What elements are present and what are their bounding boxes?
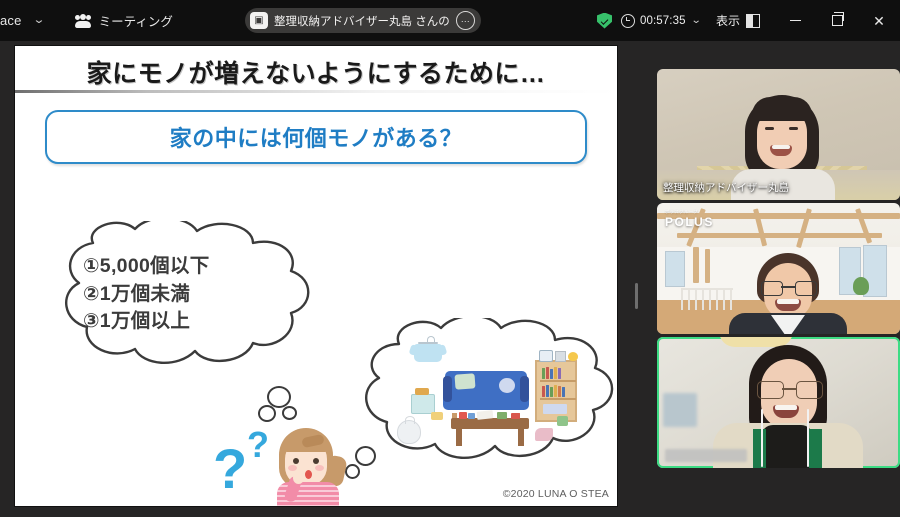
bookshelf (535, 360, 577, 422)
floor-item-pink (535, 428, 553, 441)
coffee-table (451, 418, 529, 448)
tile2-post-1 (693, 247, 699, 283)
thought-tail-bubble-small (282, 406, 297, 420)
screen-share-icon: ▣ (250, 12, 268, 29)
tile2-stair-rail (681, 288, 733, 310)
shelf-box (555, 351, 566, 362)
tile3-background-picture (663, 393, 697, 427)
view-label: 表示 (716, 12, 740, 29)
tile2-post-2 (705, 249, 710, 283)
tile3-turtleneck (761, 425, 813, 468)
table-clutter-cup (459, 412, 467, 419)
resize-handle[interactable] (629, 45, 645, 507)
question-mark-large: ? (213, 436, 247, 501)
chevron-down-icon[interactable]: ⌄ (20, 15, 56, 26)
people-icon (74, 14, 92, 28)
polus-watermark: ポラスグループ POLUS (665, 209, 714, 229)
woman-hand (293, 472, 304, 484)
option-item-3: ③1万個以上 (83, 308, 210, 336)
options-list: ①5,000個以下 ②1万個未満 ③1万個以上 (83, 253, 210, 336)
timer-chevron-down-icon[interactable]: ⌄ (690, 15, 701, 26)
question-mark-small: ? (247, 424, 269, 466)
participant-tile-2[interactable]: ポラスグループ POLUS (657, 203, 900, 334)
option-item-1: ①5,000個以下 (83, 253, 210, 281)
hanging-shirt (411, 342, 445, 368)
tile3-blurred-object (665, 449, 747, 462)
tile1-mouth (770, 145, 792, 156)
close-button[interactable]: ✕ (858, 0, 900, 41)
tile3-glasses-icon (757, 381, 821, 397)
question-box-text: 家の中には何個モノがある？ (170, 121, 463, 153)
shared-content-pill[interactable]: ▣ 整理収納アドバイザー丸島 さんの ··· (245, 8, 481, 33)
table-clutter-green (497, 412, 507, 419)
title-bar: ace ⌄ ミーティング ▣ 整理収納アドバイザー丸島 さんの ··· 00:5… (0, 0, 900, 41)
tile2-glasses-icon (761, 281, 815, 294)
tile1-fringe (752, 97, 812, 121)
tile2-mouth (775, 299, 801, 311)
toy-spill (415, 388, 429, 395)
clock-icon (621, 14, 635, 28)
shared-content-title: 整理収納アドバイザー丸島 さんの (274, 13, 450, 29)
woman-mouth (305, 470, 312, 479)
slide-title: 家にモノが増えないようにするために… (15, 54, 617, 90)
thought-tail-bubble-medium (258, 405, 276, 422)
meeting-stage: 家にモノが増えないようにするために… 家の中には何個モノがある？ ①5,000個… (0, 41, 900, 517)
shared-slide[interactable]: 家にモノが増えないようにするために… 家の中には何個モノがある？ ①5,000個… (14, 45, 618, 507)
floor-item-yellow (431, 412, 443, 420)
laundry-bag (397, 420, 421, 444)
question-box: 家の中には何個モノがある？ (45, 110, 587, 164)
more-options-icon[interactable]: ··· (456, 11, 475, 30)
shelf-toy-duck (568, 352, 578, 361)
floor-item-green (557, 416, 568, 426)
shelf-clock (539, 350, 553, 362)
thinking-woman-illustration (263, 428, 355, 506)
layout-icon (746, 14, 760, 28)
sofa (443, 368, 529, 414)
shield-check-icon (597, 13, 612, 29)
view-button[interactable]: 表示 (716, 12, 760, 29)
title-bar-left: ace ⌄ ミーティング (0, 0, 181, 41)
table-clutter-red (511, 413, 520, 419)
room-thought-bubble (355, 318, 618, 463)
option-item-2: ②1万個未満 (83, 281, 210, 309)
meeting-button[interactable]: ミーティング (66, 7, 181, 34)
tile2-window-3 (665, 251, 685, 287)
table-clutter-blue (468, 413, 475, 419)
restore-button[interactable] (816, 0, 858, 41)
woman-fringe (282, 432, 330, 452)
title-bar-right: 00:57:35 ⌄ 表示 ✕ (597, 0, 900, 41)
meeting-timer: 00:57:35 (640, 15, 686, 27)
participant-video-rail: 整理収納アドバイザー丸島 ポラスグループ (657, 69, 900, 471)
title-divider (15, 90, 617, 93)
tile2-beam-h2 (677, 233, 882, 238)
meeting-label: ミーティング (99, 11, 173, 30)
minimize-button[interactable] (774, 0, 816, 41)
toy-box (411, 394, 435, 414)
tile2-plant (853, 277, 869, 295)
resize-grip-icon (635, 283, 638, 309)
options-thought-bubble: ①5,000個以下 ②1万個未満 ③1万個以上 (57, 221, 347, 376)
thought-tail-bubble-large (267, 386, 291, 408)
table-clutter-papers (477, 410, 494, 420)
participant-tile-3[interactable] (657, 337, 900, 468)
slide-copyright: ©2020 LUNA O STEA (503, 488, 609, 500)
participant-tile-1[interactable]: 整理収納アドバイザー丸島 (657, 69, 900, 200)
teams-meeting-window: ace ⌄ ミーティング ▣ 整理収納アドバイザー丸島 さんの ··· 00:5… (0, 0, 900, 517)
participant-name-1: 整理収納アドバイザー丸島 (663, 180, 789, 195)
